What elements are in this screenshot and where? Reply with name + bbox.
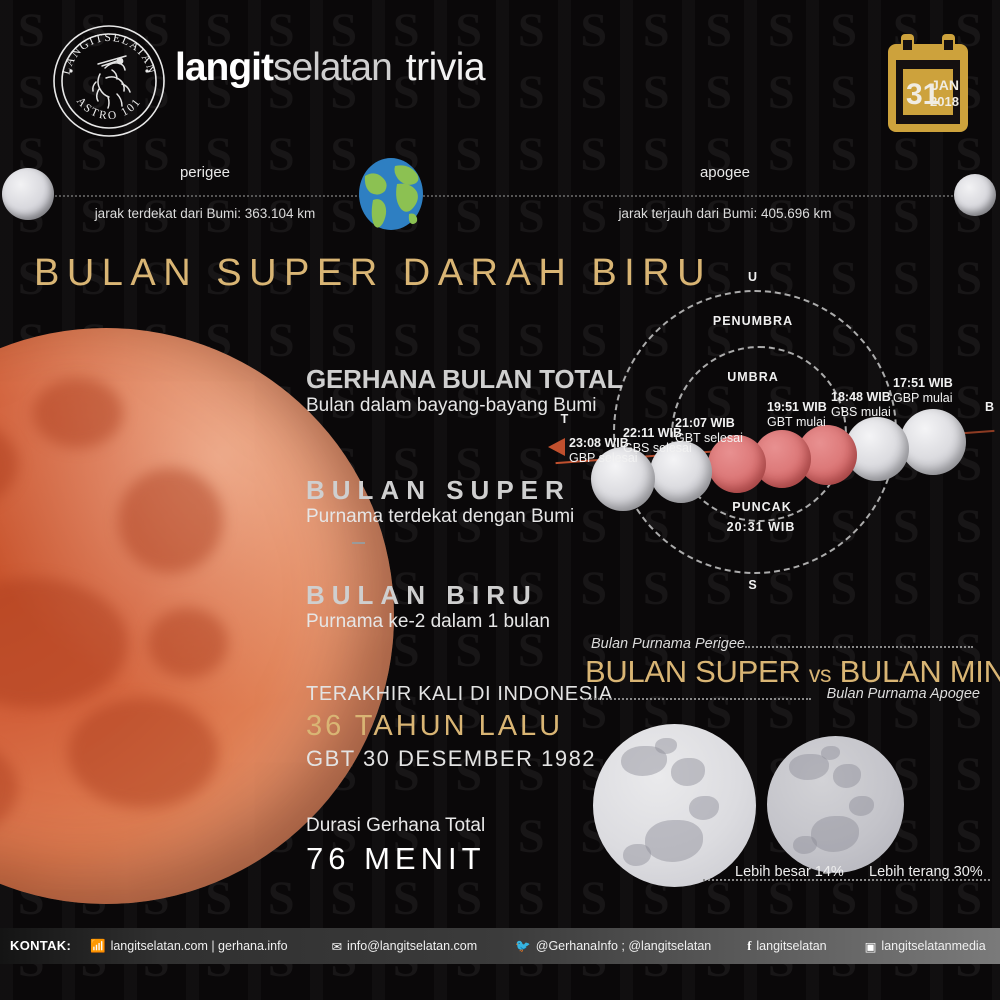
- duration-block: Durasi Gerhana Total 76 MENIT: [306, 815, 486, 877]
- peak-label: PUNCAK: [707, 500, 817, 514]
- footer-item-instagram[interactable]: ▣ langitselatanmedia: [865, 939, 986, 954]
- twitter-icon: 🐦: [515, 939, 531, 954]
- axis-label-north: U: [723, 270, 783, 284]
- apogee-distance: jarak terjauh dari Bumi: 405.696 km: [555, 206, 895, 221]
- footer-item-facebook[interactable]: f langitselatan: [747, 939, 826, 954]
- calendar-icon: 31 JAN 2018: [882, 32, 974, 137]
- footer-facebook-text: langitselatan: [756, 939, 826, 953]
- perigee-apogee-band: perigee jarak terdekat dari Bumi: 363.10…: [0, 150, 1000, 242]
- last-occurrence-value: 36 TAHUN LALU: [306, 710, 613, 743]
- minimoon-disc: [767, 736, 904, 873]
- perigee-label: perigee: [90, 164, 320, 181]
- caption-top-dotted-line: [745, 646, 973, 648]
- perigee-fullmoon-caption: Bulan Purnama Perigee: [591, 636, 745, 652]
- title-bulan-mini: BULAN MINI: [840, 654, 1000, 689]
- orbit-dotted-line: [36, 195, 964, 197]
- super-vs-mini-section: Bulan Purnama Perigee BULAN SUPER vs BUL…: [575, 636, 990, 886]
- duration-value: 76 MENIT: [306, 841, 486, 877]
- supermoon-disc: [593, 724, 756, 887]
- fact-2-heading: BULAN SUPER: [306, 475, 574, 506]
- calendar-month: JAN: [931, 77, 959, 93]
- footer-links: 📶 langitselatan.com | gerhana.info ✉ inf…: [90, 928, 1000, 964]
- instagram-icon: ▣: [865, 939, 877, 954]
- penumbra-label: PENUMBRA: [693, 314, 813, 328]
- brand-wordmark: langitselatantrivia: [175, 46, 485, 90]
- moon-apogee-icon: [954, 174, 996, 216]
- peak-time: 20:31 WIB: [701, 520, 821, 534]
- super-vs-mini-title: BULAN SUPER vs BULAN MINI: [585, 654, 1000, 690]
- axis-label-west: T: [550, 412, 580, 426]
- footer-item-email[interactable]: ✉ info@langitselatan.com: [332, 939, 478, 954]
- fact-bulan-super: BULAN SUPER Purnama terdekat dengan Bumi: [306, 475, 574, 528]
- umbra-label: UMBRA: [703, 370, 803, 384]
- caption-bottom-dotted-line: [583, 698, 811, 700]
- footer-instagram-text: langitselatanmedia: [881, 939, 985, 953]
- eclipse-direction-arrow-icon: [548, 438, 565, 456]
- facebook-icon: f: [747, 939, 751, 954]
- fact-bulan-biru: BULAN BIRU Purnama ke-2 dalam 1 bulan: [306, 580, 550, 633]
- rss-icon: 📶: [90, 939, 106, 954]
- fact-2-sub: Purnama terdekat dengan Bumi: [306, 506, 574, 528]
- divider-dash: [352, 542, 365, 544]
- last-occurrence-caption: TERAKHIR KALI DI INDONESIA: [306, 683, 613, 706]
- duration-caption: Durasi Gerhana Total: [306, 815, 486, 837]
- fact-3-sub: Purnama ke-2 dalam 1 bulan: [306, 611, 550, 633]
- footer-twitter-text: @GerhanaInfo ; @langitselatan: [536, 939, 711, 953]
- title-bulan-super: BULAN SUPER: [585, 654, 801, 689]
- axis-label-south: S: [723, 578, 783, 592]
- stat-bigger: Lebih besar 14%: [735, 864, 844, 880]
- brand-langit: langit: [175, 46, 273, 89]
- title-vs: vs: [809, 661, 831, 687]
- phase-time-gbp-mulai: 17:51 WIB GBP mulai: [893, 376, 953, 406]
- eclipse-path-diagram: U S T B PENUMBRA UMBRA 17:51 WIB GBP mul…: [545, 278, 1000, 613]
- perigee-distance: jarak terdekat dari Bumi: 363.104 km: [40, 206, 370, 221]
- calendar-year: 2018: [930, 94, 959, 109]
- langitselatan-seal-logo: LANGITSELATAN ASTRO 101: [50, 22, 168, 140]
- phase-time-gbs-mulai: 18:48 WIB GBS mulai: [831, 390, 891, 420]
- stat-brighter: Lebih terang 30%: [869, 864, 983, 880]
- brand-trivia: trivia: [406, 46, 485, 89]
- footer-email-text: info@langitselatan.com: [347, 939, 477, 953]
- apogee-label: apogee: [610, 164, 840, 181]
- infographic-canvas: SSSSSSSSSSSSSSSSSSSSSSSSSSSSSSSSSSSSSSSS…: [0, 0, 1000, 1000]
- phase-time-gbt-mulai: 19:51 WIB GBT mulai: [767, 400, 827, 430]
- footer-item-website[interactable]: 📶 langitselatan.com | gerhana.info: [90, 939, 288, 954]
- kontak-label: KONTAK:: [10, 938, 71, 953]
- last-occurrence-detail: GBT 30 DESEMBER 1982: [306, 746, 613, 772]
- fact-3-heading: BULAN BIRU: [306, 580, 550, 611]
- phase-time-gbp-selesai: 23:08 WIB GBP selesai: [569, 436, 638, 466]
- last-occurrence-block: TERAKHIR KALI DI INDONESIA 36 TAHUN LALU…: [306, 683, 613, 772]
- envelope-icon: ✉: [332, 939, 342, 954]
- footer-website-text: langitselatan.com | gerhana.info: [111, 939, 288, 953]
- brand-selatan: selatan: [273, 46, 392, 89]
- axis-label-east: B: [975, 400, 1000, 414]
- footer-item-twitter[interactable]: 🐦 @GerhanaInfo ; @langitselatan: [515, 939, 711, 954]
- apogee-fullmoon-caption: Bulan Purnama Apogee: [827, 686, 980, 702]
- phase-moon-gbp-mulai: [900, 409, 966, 475]
